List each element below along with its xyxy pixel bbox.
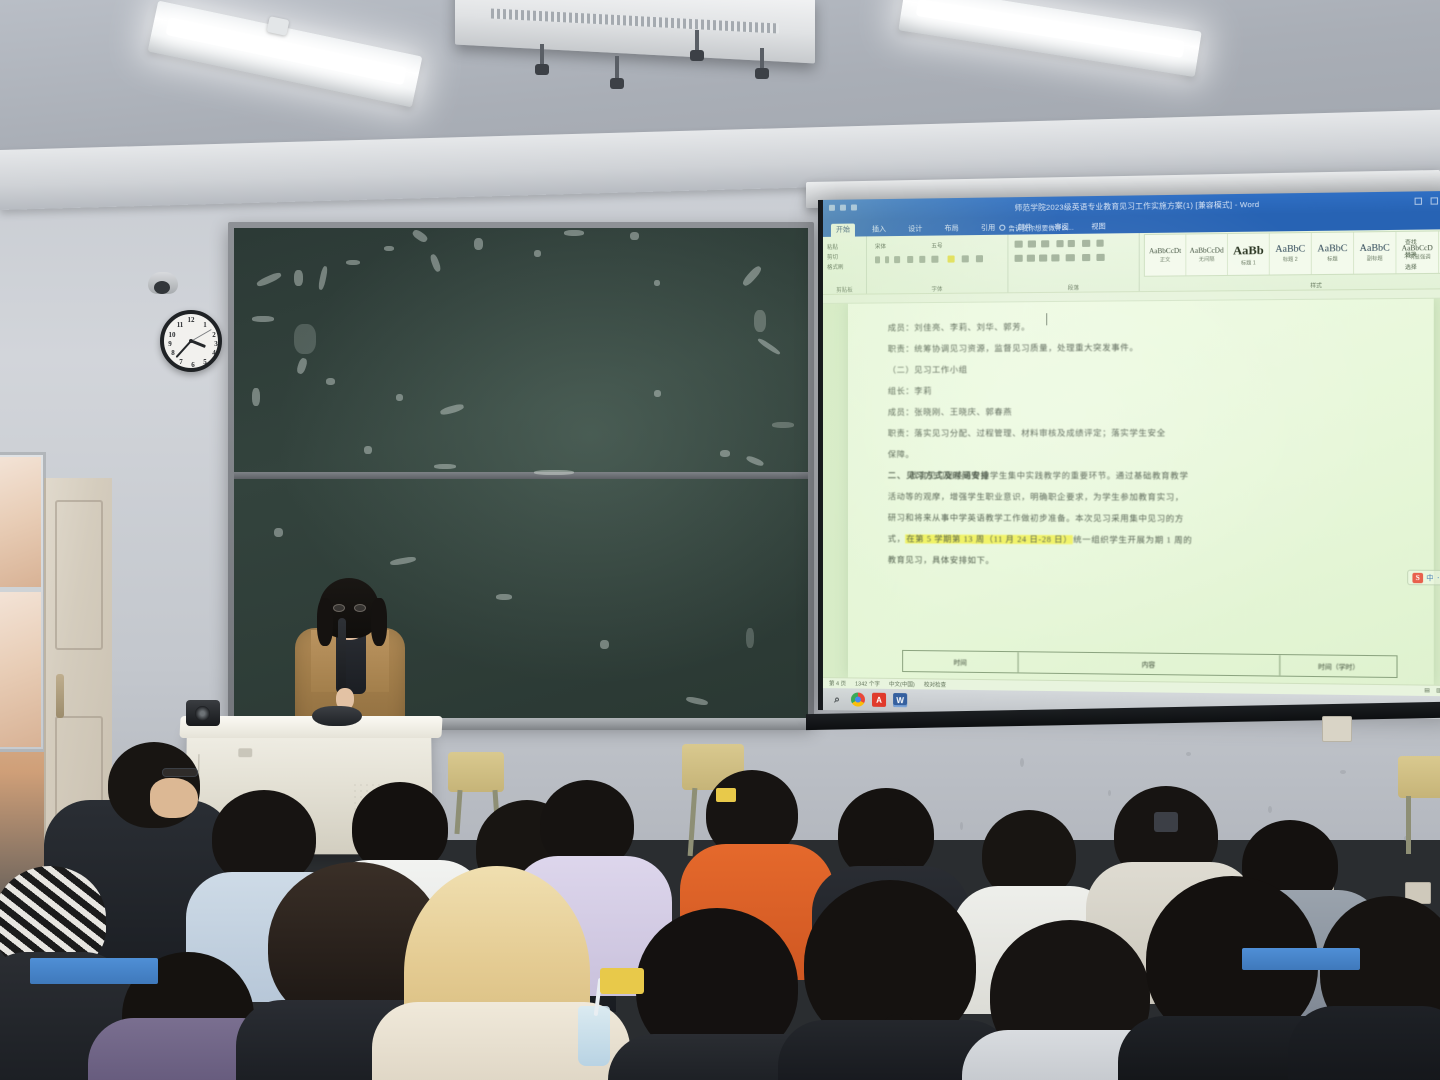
student-face bbox=[150, 778, 198, 818]
font-size-box[interactable]: 五号 bbox=[931, 242, 942, 250]
blackboard-divider bbox=[234, 472, 808, 479]
align-center-icon[interactable] bbox=[1027, 255, 1035, 262]
door-panel bbox=[55, 500, 103, 650]
underline-icon[interactable] bbox=[894, 256, 900, 263]
style-sample: AaBbCcDt bbox=[1149, 247, 1181, 256]
font-color-icon[interactable] bbox=[962, 255, 969, 262]
cut-label[interactable]: 剪切 bbox=[827, 253, 838, 261]
security-camera-icon bbox=[148, 272, 178, 294]
style-sample: AaBbC bbox=[1275, 244, 1305, 255]
highlighted-text: 在第 5 学期第 13 周（11 月 24 日-28 日） bbox=[905, 534, 1073, 544]
superscript-icon[interactable] bbox=[931, 256, 938, 263]
microphone-base bbox=[312, 706, 362, 726]
quick-access-toolbar[interactable] bbox=[829, 204, 857, 210]
style-normal[interactable]: AaBbCcDt 正文 bbox=[1145, 235, 1186, 276]
proofing-indicator[interactable]: 校对检查 bbox=[924, 680, 946, 688]
page-indicator[interactable]: 第 4 页 bbox=[829, 679, 846, 687]
pdf-icon[interactable]: A bbox=[872, 693, 886, 707]
find-label[interactable]: 查找 bbox=[1405, 238, 1417, 246]
hair-clip bbox=[1154, 812, 1178, 832]
style-label: 无间隔 bbox=[1199, 256, 1215, 263]
group-label-paragraph: 段落 bbox=[1008, 283, 1138, 292]
group-label-clipboard: 剪贴板 bbox=[823, 286, 866, 294]
undo-icon[interactable] bbox=[840, 205, 846, 211]
glasses-icon bbox=[162, 768, 198, 777]
ac-vent bbox=[491, 8, 779, 33]
glasses-right-lens-icon bbox=[354, 604, 366, 612]
word-icon[interactable]: W bbox=[893, 693, 907, 707]
multilevel-list-icon[interactable] bbox=[1041, 240, 1049, 247]
wall-clock: 12 1 2 3 4 5 6 7 8 9 10 11 bbox=[160, 310, 222, 372]
chair-leg bbox=[1406, 796, 1411, 854]
hair-clip bbox=[716, 788, 736, 802]
table-header-cell: 内容 bbox=[1019, 652, 1281, 675]
tell-me-search[interactable]: 告诉我你想要做什么... bbox=[999, 222, 1073, 233]
align-right-icon[interactable] bbox=[1039, 254, 1047, 261]
line-spacing-icon[interactable] bbox=[1066, 254, 1075, 261]
style-label: 副标题 bbox=[1367, 255, 1383, 262]
style-label: 标题 bbox=[1327, 255, 1338, 262]
format-painter-label[interactable]: 格式刷 bbox=[827, 263, 843, 271]
doc-paragraph-highlighted: 式，在第 5 学期第 13 周（11 月 24 日-28 日）统一组织学生开展为… bbox=[888, 528, 1398, 552]
word-application-window: 师范学院2023级英语专业教育见习工作实施方案(1) [兼容模式] - Word… bbox=[823, 191, 1440, 719]
numbering-icon[interactable] bbox=[1028, 240, 1036, 247]
projection-screen: 师范学院2023级英语专业教育见习工作实施方案(1) [兼容模式] - Word… bbox=[818, 191, 1440, 719]
yellow-notebook[interactable] bbox=[600, 968, 644, 994]
web-layout-view-icon[interactable]: ▥ bbox=[1436, 688, 1440, 694]
tab-insert[interactable]: 插入 bbox=[867, 223, 891, 236]
doc-paragraph: 活动等的观摩，增强学生职业意识，明确职企要求，为学生参加教育实习， bbox=[888, 486, 1398, 509]
window-controls[interactable] bbox=[1415, 197, 1440, 205]
text-highlight-color-icon[interactable] bbox=[948, 255, 955, 262]
table-header-cell: 时间 bbox=[903, 651, 1019, 672]
presenter-hair-side bbox=[317, 598, 333, 646]
ribbon-group-paragraph[interactable]: 段落 bbox=[1008, 233, 1139, 292]
classroom-chair[interactable] bbox=[448, 752, 504, 792]
group-label-font: 字体 bbox=[867, 284, 1007, 293]
restore-icon[interactable] bbox=[1431, 197, 1438, 204]
lectern-button[interactable] bbox=[238, 748, 252, 757]
style-sample: AaBb bbox=[1233, 242, 1264, 258]
style-label: 正文 bbox=[1160, 256, 1170, 263]
line-suffix: 统一组织学生开展为期 1 周的 bbox=[1073, 535, 1192, 545]
style-title[interactable]: AaBbC 标题 bbox=[1312, 232, 1354, 274]
sogou-ime-toolbar[interactable]: S 中 ⋯ bbox=[1407, 570, 1440, 586]
ribbon-group-font[interactable]: 宋体 五号 字体 bbox=[867, 235, 1008, 294]
language-indicator[interactable]: 中文(中国) bbox=[889, 680, 915, 688]
doc-paragraph: 教育见习，具体安排如下。 bbox=[888, 549, 1398, 573]
shading-icon[interactable] bbox=[1082, 254, 1090, 261]
document-canvas[interactable]: 成员：刘佳亮、李莉、刘华、郭芳。 职责：统筹协调见习资源，监督见习质量，处理重大… bbox=[823, 299, 1440, 685]
wall-socket[interactable] bbox=[1322, 716, 1352, 742]
doc-paragraph: 职责：统筹协调见习资源，监督见习质量，处理重大突发事件。 bbox=[888, 335, 1398, 359]
bold-icon[interactable] bbox=[875, 256, 880, 263]
italic-icon[interactable] bbox=[885, 256, 889, 263]
sogou-logo-icon: S bbox=[1412, 572, 1423, 582]
tell-me-placeholder: 告诉我你想要做什么... bbox=[1008, 222, 1073, 233]
door-handle[interactable] bbox=[56, 674, 64, 718]
lightbulb-icon bbox=[999, 225, 1005, 231]
chrome-icon[interactable] bbox=[851, 692, 865, 706]
desk-surface bbox=[30, 958, 158, 984]
table-header-cell: 时间（学时） bbox=[1281, 655, 1397, 677]
style-sample: AaBbCcDd bbox=[1190, 246, 1224, 255]
document-camera[interactable] bbox=[186, 700, 220, 726]
mount-rod bbox=[695, 30, 699, 54]
show-marks-icon[interactable] bbox=[1096, 240, 1103, 247]
font-name-box[interactable]: 宋体 bbox=[875, 242, 886, 250]
save-icon[interactable] bbox=[829, 205, 835, 211]
select-label[interactable]: 选择 bbox=[1405, 263, 1417, 271]
tab-design[interactable]: 设计 bbox=[903, 223, 927, 236]
justify-icon[interactable] bbox=[1051, 254, 1059, 261]
doc-paragraph: 组长：李莉 bbox=[888, 379, 1398, 402]
minimize-icon[interactable] bbox=[1415, 198, 1422, 205]
classroom-photo: 12 1 2 3 4 5 6 7 8 9 10 11 bbox=[0, 0, 1440, 1080]
clock-center-pin bbox=[189, 339, 193, 343]
doc-paragraph: 保障。 bbox=[888, 444, 1398, 466]
tab-view[interactable]: 视图 bbox=[1086, 220, 1111, 234]
doc-paragraph: 职责：落实见习分配、过程管理、材料审核及成绩评定；落实学生安全 bbox=[888, 422, 1398, 444]
mount-rod bbox=[760, 48, 764, 72]
window-title: 师范学院2023级英语专业教育见习工作实施方案(1) [兼容模式] - Word bbox=[1015, 198, 1260, 213]
desk-surface bbox=[1242, 948, 1360, 970]
style-label: 标题 1 bbox=[1241, 259, 1256, 266]
align-left-icon[interactable] bbox=[1015, 255, 1023, 262]
print-layout-view-icon[interactable]: ▤ bbox=[1424, 688, 1430, 694]
doc-paragraph: 教育见习是英语专业学生集中实践教学的重要环节。通过基础教育教学 bbox=[888, 465, 1398, 487]
line-prefix: 式， bbox=[888, 534, 906, 543]
window-pane bbox=[0, 457, 41, 587]
style-sample: AaBbC bbox=[1317, 244, 1347, 255]
mount-rod bbox=[540, 44, 544, 68]
classroom-chair[interactable] bbox=[1398, 756, 1440, 798]
ribbon-group-clipboard[interactable]: 粘贴 剪切 格式刷 剪贴板 bbox=[823, 236, 867, 294]
mount-rod bbox=[615, 56, 619, 82]
view-controls[interactable]: ▤ ▥ ▬ bbox=[1424, 688, 1440, 695]
style-sample: AaBbC bbox=[1360, 243, 1390, 254]
clear-formatting-icon[interactable] bbox=[976, 255, 983, 262]
style-subtitle[interactable]: AaBbC 副标题 bbox=[1354, 232, 1396, 274]
schedule-table[interactable]: 时间 内容 时间（学时） bbox=[902, 650, 1398, 678]
paste-label[interactable]: 粘贴 bbox=[827, 243, 838, 251]
word-count[interactable]: 1342 个字 bbox=[855, 679, 880, 687]
style-no-spacing[interactable]: AaBbCcDd 无间隔 bbox=[1186, 234, 1228, 275]
doc-paragraph: 研习和将来从事中学英语教学工作做初步准备。本次见习采用集中见习的方 bbox=[888, 507, 1398, 530]
strikethrough-icon[interactable] bbox=[907, 256, 913, 263]
bullets-icon[interactable] bbox=[1015, 241, 1023, 248]
search-icon[interactable]: ⌕ bbox=[830, 692, 844, 706]
presenter-hair-side bbox=[371, 598, 387, 646]
ime-mode-indicator[interactable]: 中 bbox=[1426, 572, 1433, 582]
doc-paragraph: （二）见习工作小组 bbox=[888, 357, 1398, 381]
style-heading-1[interactable]: AaBb 标题 1 bbox=[1228, 234, 1270, 275]
tab-home[interactable]: 开始 bbox=[831, 224, 855, 237]
doc-paragraph: 成员：张晓刚、王晓庆、郭春燕 bbox=[888, 400, 1398, 423]
subscript-icon[interactable] bbox=[919, 256, 925, 263]
increase-indent-icon[interactable] bbox=[1068, 240, 1075, 247]
window-frame bbox=[0, 452, 46, 752]
decrease-indent-icon[interactable] bbox=[1056, 240, 1063, 247]
borders-icon[interactable] bbox=[1096, 254, 1104, 261]
sort-icon[interactable] bbox=[1082, 240, 1090, 247]
tab-references[interactable]: 引用 bbox=[976, 222, 1000, 235]
replace-label[interactable]: 替换 bbox=[1405, 250, 1417, 258]
window-pane bbox=[0, 592, 41, 747]
student-body bbox=[1288, 1006, 1440, 1080]
tab-layout[interactable]: 布局 bbox=[939, 222, 963, 235]
ribbon[interactable]: 粘贴 剪切 格式刷 剪贴板 宋体 五号 字体 bbox=[823, 229, 1440, 295]
style-label: 标题 2 bbox=[1283, 256, 1298, 263]
style-heading-2[interactable]: AaBbC 标题 2 bbox=[1270, 233, 1312, 275]
redo-icon[interactable] bbox=[851, 204, 857, 210]
glasses-left-lens-icon bbox=[333, 604, 345, 612]
document-page[interactable]: 成员：刘佳亮、李莉、刘华、郭芳。 职责：统筹协调见习资源，监督见习质量，处理重大… bbox=[848, 299, 1434, 685]
